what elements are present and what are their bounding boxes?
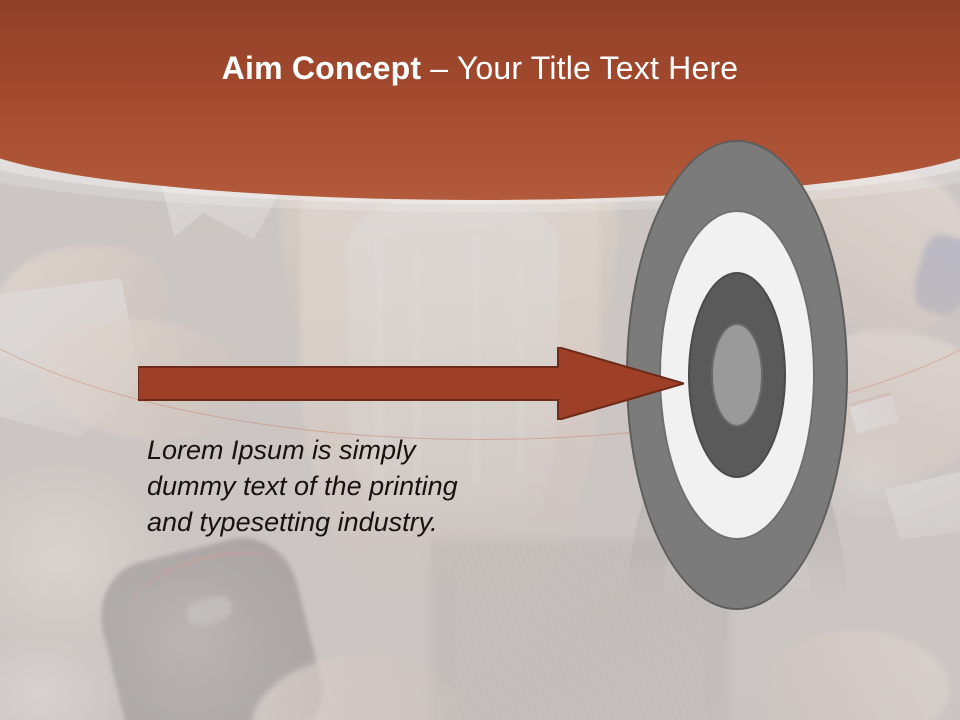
body-text-line: Lorem Ipsum is simply [147,432,567,468]
page-title-rest: – Your Title Text Here [421,50,738,86]
page-title: Aim Concept – Your Title Text Here [0,48,960,88]
page-title-emphasis: Aim Concept [222,50,422,86]
slide-canvas: Aim Concept – Your Title Text Here Lorem… [0,0,960,720]
body-text: Lorem Ipsum is simply dummy text of the … [147,432,567,540]
right-pointing-arrow [138,347,684,420]
body-text-line: dummy text of the printing [147,468,567,504]
target-bullseye [711,323,763,427]
body-text-line: and typesetting industry. [147,504,567,540]
